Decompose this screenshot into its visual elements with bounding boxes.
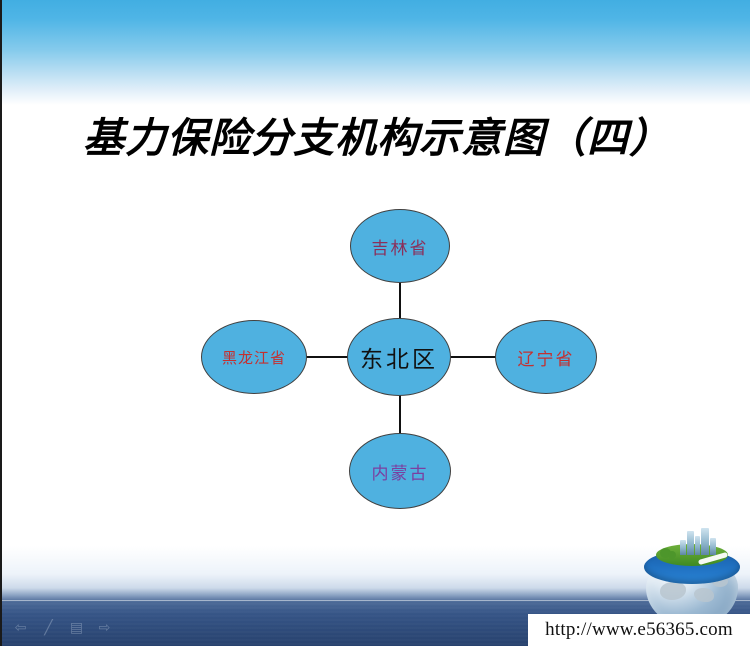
logo-continent bbox=[694, 588, 714, 602]
diagram-node-label: 东北区 bbox=[360, 340, 438, 374]
logo-tree bbox=[668, 551, 676, 559]
diagram-node-heilongjiang[interactable]: 黑龙江省 bbox=[201, 320, 307, 394]
logo-city-skyline bbox=[678, 527, 720, 555]
slideshow-nav-icons[interactable]: ⇦ ╱ ▤ ⇨ bbox=[12, 621, 113, 636]
back-arrow-icon[interactable]: ⇦ bbox=[12, 621, 29, 636]
watermark-url: http://www.e56365.com bbox=[545, 619, 733, 641]
forward-arrow-icon[interactable]: ⇨ bbox=[96, 621, 113, 636]
slide-background-sky bbox=[2, 0, 750, 105]
pen-icon[interactable]: ╱ bbox=[40, 621, 57, 636]
diagram-node-liaoning[interactable]: 辽宁省 bbox=[495, 320, 597, 394]
diagram-node-label: 辽宁省 bbox=[518, 345, 575, 370]
presentation-slide: ⇦ ╱ ▤ ⇨ 基力保险分支机构示意图（四） 吉林省 黑龙江省 东北区 辽宁省 … bbox=[0, 0, 750, 646]
diagram-node-jilin[interactable]: 吉林省 bbox=[350, 209, 450, 283]
page-icon[interactable]: ▤ bbox=[68, 621, 85, 636]
diagram-node-inner-mongolia[interactable]: 内蒙古 bbox=[349, 433, 451, 509]
water-horizon-line bbox=[2, 600, 750, 601]
page-title: 基力保险分支机构示意图（四） bbox=[2, 104, 750, 164]
watermark: http://www.e56365.com bbox=[528, 614, 750, 646]
diagram-node-center-northeast[interactable]: 东北区 bbox=[347, 318, 451, 396]
logo-continent bbox=[660, 582, 686, 600]
diagram-node-label: 吉林省 bbox=[372, 234, 429, 259]
diagram-node-label: 黑龙江省 bbox=[222, 347, 286, 368]
diagram-node-label: 内蒙古 bbox=[372, 459, 429, 484]
